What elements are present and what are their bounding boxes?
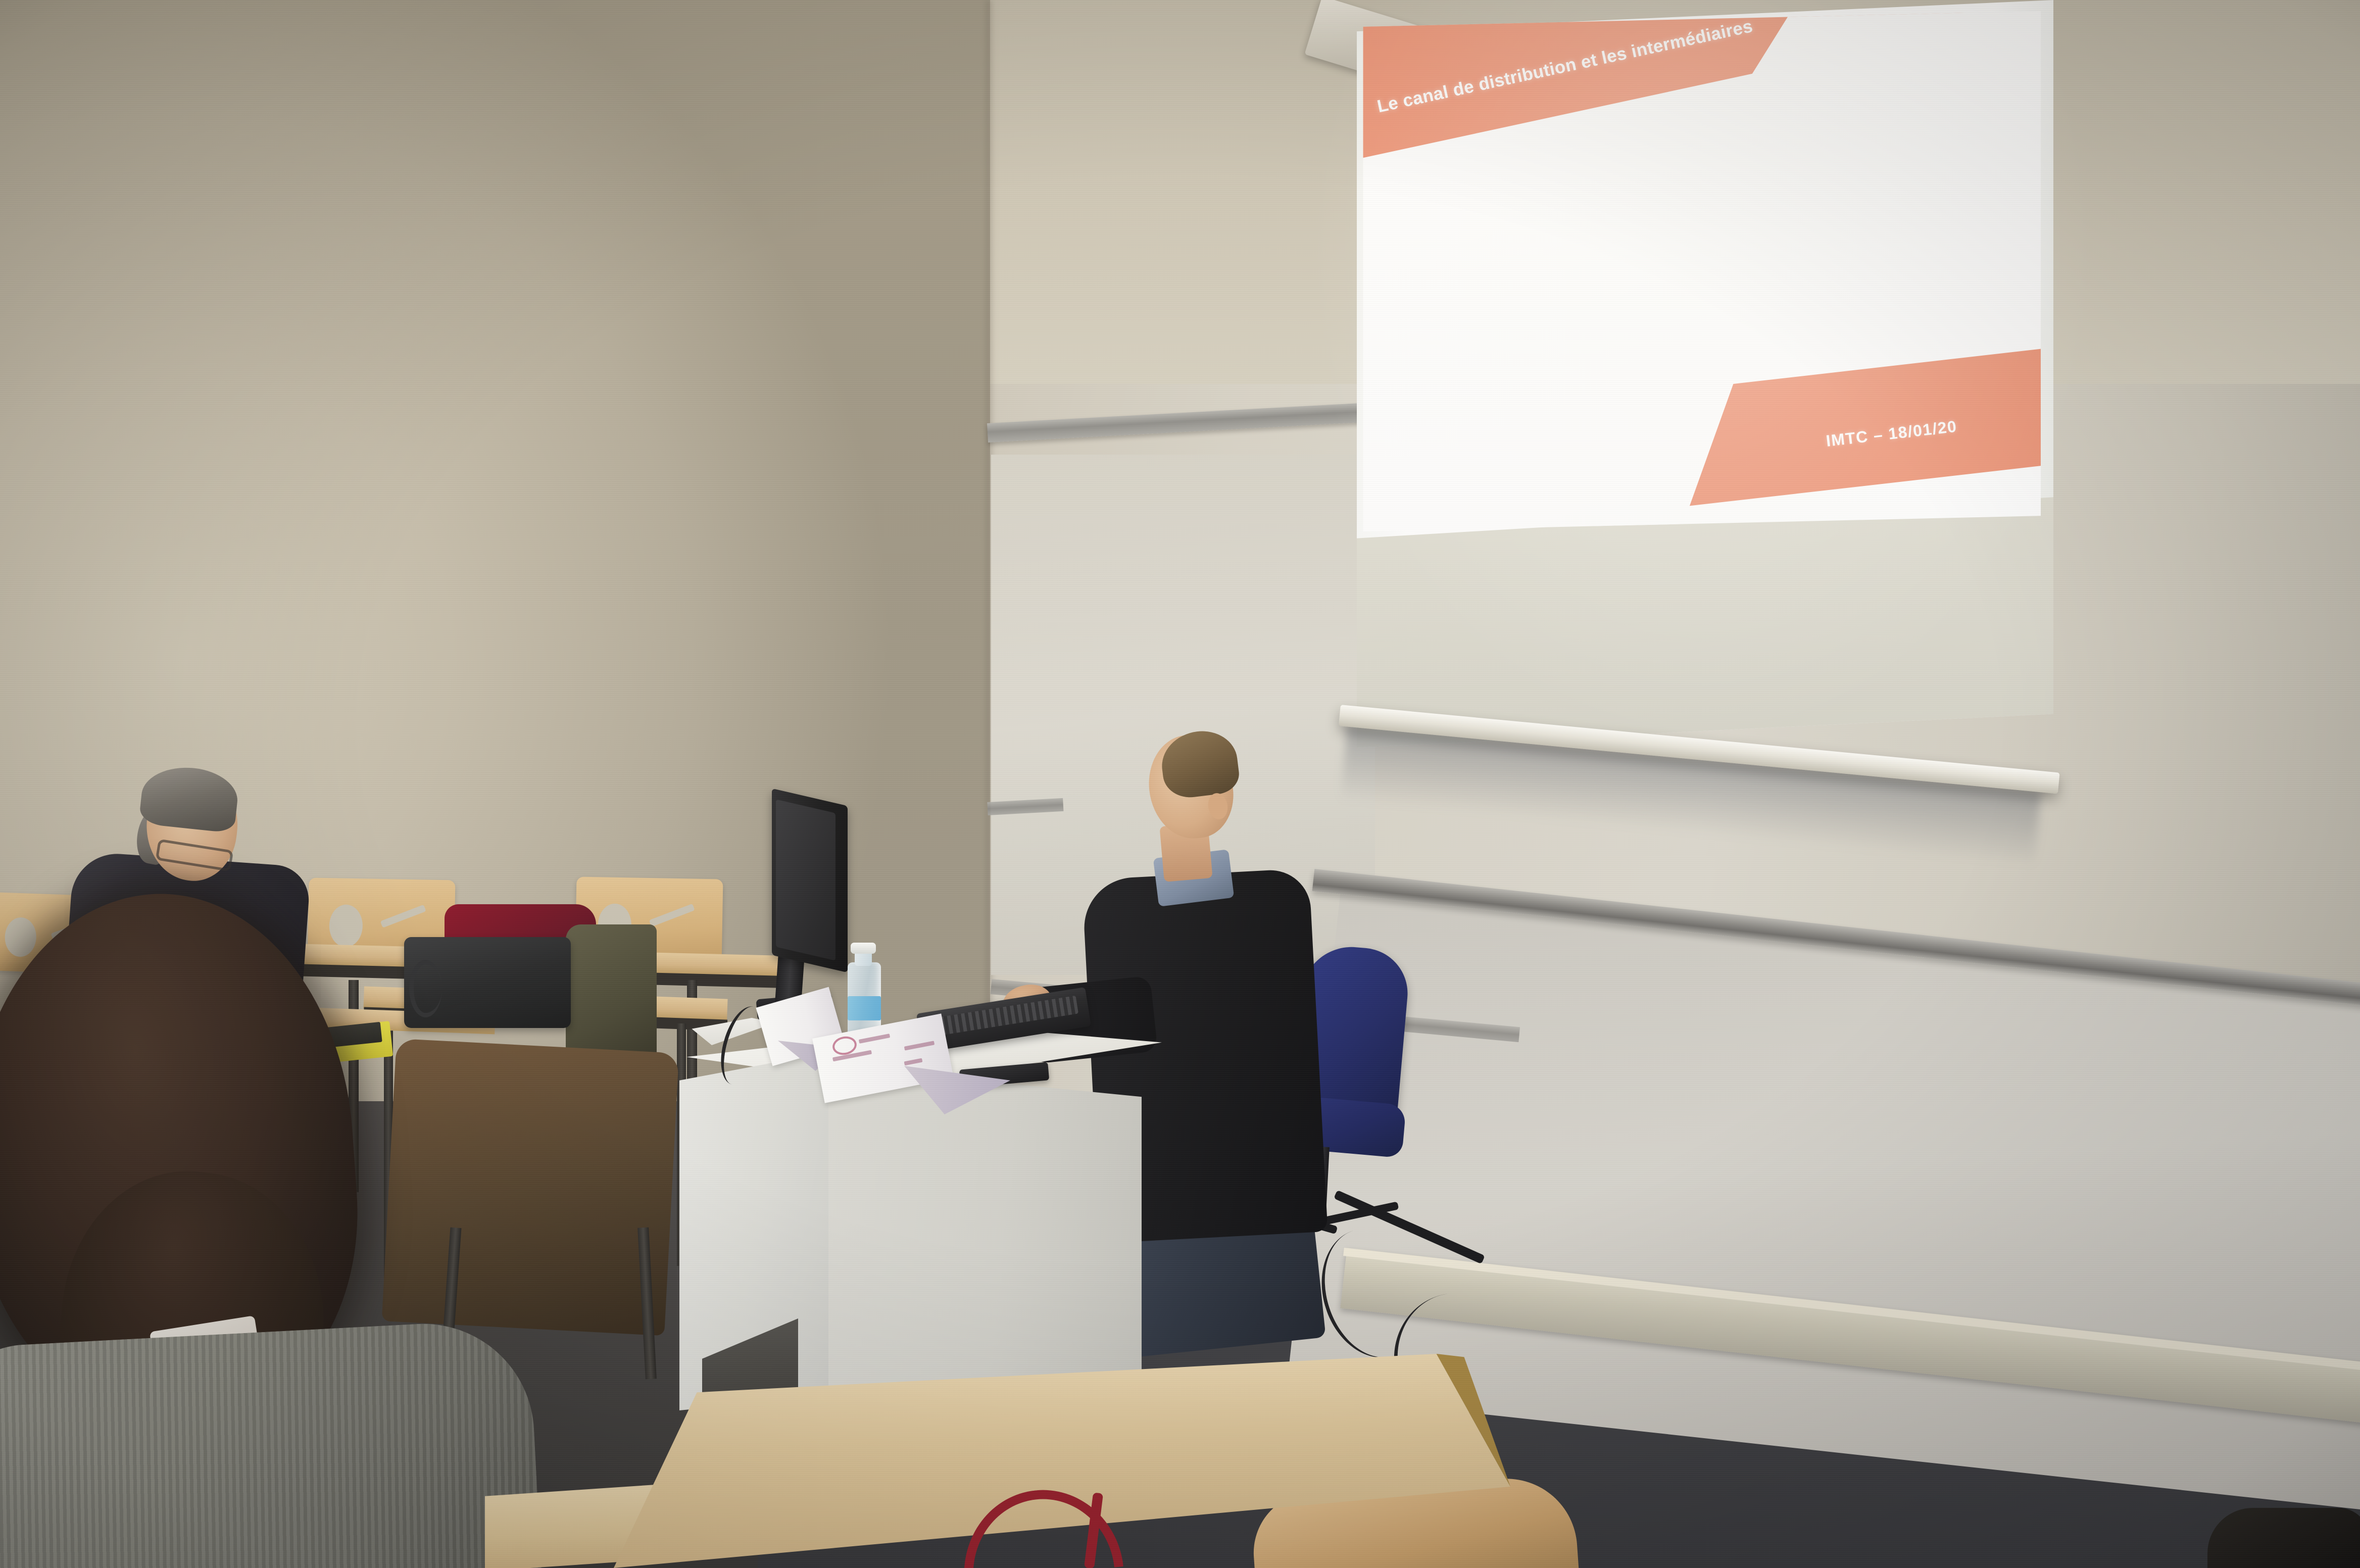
chair-slit-cutout <box>380 905 426 928</box>
projection-screen: Le canal de distribution et les interméd… <box>1346 0 2063 758</box>
classroom-photo: Le canal de distribution et les interméd… <box>0 0 2360 1568</box>
monitor-bezel <box>776 799 835 960</box>
water-bottle-label <box>848 996 881 1020</box>
bag-handle <box>409 960 442 1017</box>
chair-oval-cutout <box>329 904 363 947</box>
foreground-dark-object <box>2207 1508 2360 1568</box>
foreground-woman-sweater <box>0 1318 542 1568</box>
chair-oval-cutout <box>4 917 37 957</box>
projected-slide: Le canal de distribution et les interméd… <box>1356 11 2041 531</box>
chair-slit-cutout <box>649 904 695 927</box>
lectern-front-panel <box>828 1066 1142 1409</box>
draped-brown-coat <box>382 1039 679 1336</box>
water-bottle-cap[interactable] <box>851 943 876 954</box>
